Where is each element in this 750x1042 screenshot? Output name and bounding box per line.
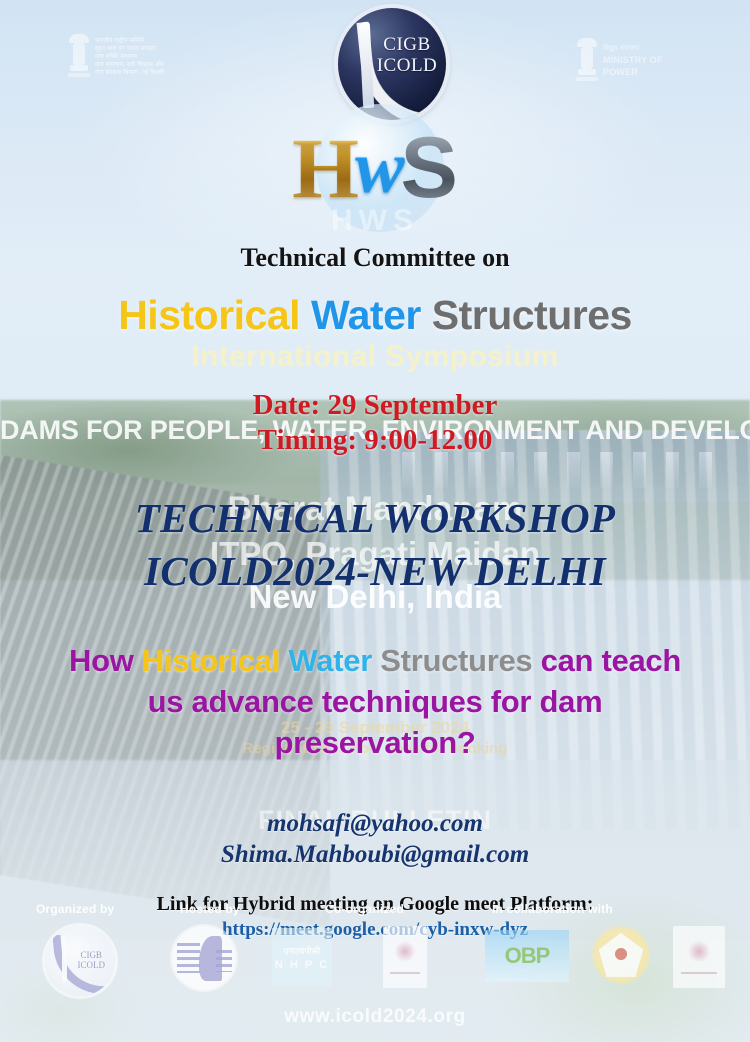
- footer-incold-dam-logo: [172, 926, 236, 990]
- ministry-hindi-label: विद्युत मंत्रालय: [603, 45, 663, 53]
- government-of-india-emblem: भारतीय राष्ट्रीय समिति वृहत बांध पर भारत…: [68, 34, 164, 80]
- organized-by-label: Organized by: [36, 902, 114, 916]
- hws-letters: HwS: [0, 118, 750, 218]
- footer-icold-text: CIGB ICOLD: [74, 950, 108, 970]
- event-time: Timing: 9:00-12.00: [0, 423, 750, 458]
- sponsor-emblem-icon: [394, 941, 415, 962]
- in-collaboration-label: In collaboration with: [492, 902, 613, 916]
- workshop-headline: TECHNICAL WORKSHOP ICOLD2024-NEW DELHI: [0, 492, 750, 598]
- footer-cigb-icold-logo: CIGB ICOLD: [45, 926, 115, 996]
- partner-emblem-icon: [687, 941, 712, 962]
- hws-reflection: HWS: [0, 204, 750, 238]
- sponsor-footer: Organized by Hosted by Co-organized In c…: [0, 896, 750, 1016]
- title-word-water: Water: [311, 292, 421, 338]
- question-line-1: How Historical Water Structures can teac…: [0, 640, 750, 681]
- emblem-left-line-3: जल शक्ति मंत्रालय: [95, 54, 164, 60]
- contact-email-1[interactable]: mohsafi@yahoo.com: [0, 808, 750, 839]
- footer-icold-line-1: CIGB: [74, 950, 108, 960]
- footer-icold-line-2: ICOLD: [74, 960, 108, 970]
- emblem-left-text: भारतीय राष्ट्रीय समिति वृहत बांध पर भारत…: [95, 38, 164, 76]
- emblem-left-line-1: भारतीय राष्ट्रीय समिति: [95, 38, 164, 44]
- nhpc-hindi-text: एनएचपीसी: [284, 944, 321, 957]
- contact-emails: mohsafi@yahoo.com Shima.Mahboubi@gmail.c…: [0, 808, 750, 870]
- hws-letter-w: w: [355, 127, 404, 209]
- sponsor-rule-icon: [390, 972, 420, 974]
- pentagon-center-dot-icon: [615, 948, 627, 960]
- question-word-historical: Historical: [142, 643, 280, 678]
- emblem-right-text: विद्युत मंत्रालय MINISTRY OF POWER: [603, 45, 663, 77]
- dam-spillway-icon: [216, 950, 233, 972]
- dam-spillway-icon: [177, 943, 200, 974]
- contact-email-2[interactable]: Shima.Mahboubi@gmail.com: [0, 839, 750, 870]
- icold-logo-text: CIGB ICOLD: [376, 34, 438, 76]
- footer-sponsor-card-logo: [383, 926, 427, 988]
- emblem-left-line-5: गंगा संरक्षण विभाग, नई दिल्ली: [95, 70, 164, 76]
- question-line-2: us advance techniques for dam: [0, 681, 750, 722]
- sjvn-logo-text: OBP: [505, 943, 550, 969]
- poster-canvas: International Symposium DAMS FOR PEOPLE,…: [0, 0, 750, 1042]
- page-title: Historical Water Structures: [0, 292, 750, 339]
- event-datetime: Date: 29 September Timing: 9:00-12.00: [0, 388, 750, 458]
- title-word-structures: Structures: [432, 292, 632, 338]
- title-word-historical: Historical: [118, 292, 300, 338]
- pentagon-shape-icon: [599, 933, 644, 978]
- ashoka-pillar-icon: [68, 34, 90, 80]
- hws-wordmark: HwS HWS: [0, 118, 750, 228]
- icold-logo-line-2: ICOLD: [376, 55, 438, 76]
- emblem-left-line-2: वृहत बांध पर भारत सरकार: [95, 46, 164, 52]
- question-word-water: Water: [288, 643, 371, 678]
- emblem-left-line-4: जल संसाधन, नदी विकास और: [95, 62, 164, 68]
- co-organized-label: Co-organized: [325, 902, 404, 916]
- footer-nhpc-logo: एनएचपीसी N H P C: [272, 928, 332, 986]
- question-word-structures: Structures: [380, 643, 532, 678]
- workshop-question: How Historical Water Structures can teac…: [0, 640, 750, 763]
- question-line-3: preservation?: [0, 722, 750, 763]
- ministry-line-2: POWER: [603, 67, 663, 77]
- hosted-by-label: Hosted by: [180, 902, 240, 916]
- workshop-line-1: TECHNICAL WORKSHOP: [0, 492, 750, 545]
- event-date: Date: 29 September: [0, 388, 750, 423]
- ashoka-pillar-icon: [576, 38, 598, 84]
- icold-pylon-icon: [62, 936, 68, 982]
- workshop-line-2: ICOLD2024-NEW DELHI: [0, 545, 750, 598]
- hws-letter-h: H: [292, 120, 359, 216]
- question-suffix: can teach: [532, 643, 681, 678]
- nhpc-english-text: N H P C: [275, 959, 329, 971]
- cigb-icold-logo: CIGB ICOLD: [338, 8, 446, 120]
- icold-logo-line-1: CIGB: [376, 34, 438, 55]
- partner-rule-icon: [681, 972, 716, 974]
- question-prefix: How: [69, 643, 142, 678]
- technical-committee-label: Technical Committee on: [0, 243, 750, 273]
- hws-letter-s: S: [400, 120, 457, 216]
- footer-pentagon-sponsor-logo: [590, 924, 652, 986]
- footer-sjvn-logo: OBP: [485, 930, 569, 982]
- ministry-line-1: MINISTRY OF: [603, 55, 663, 65]
- ministry-of-power-emblem: विद्युत मंत्रालय MINISTRY OF POWER: [576, 38, 663, 84]
- footer-partner-card-logo: [673, 926, 725, 988]
